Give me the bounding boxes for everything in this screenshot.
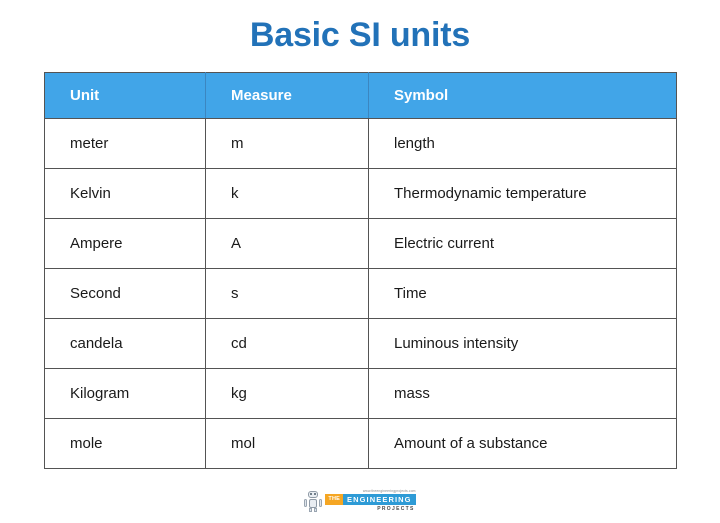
table-row: Ampere A Electric current <box>45 219 677 269</box>
cell-symbol: mass <box>369 369 677 419</box>
table-row: candela cd Luminous intensity <box>45 319 677 369</box>
slide-canvas: Basic SI units Unit Measure Symbol meter… <box>0 0 720 523</box>
logo-main-row: THE ENGINEERING <box>325 494 415 505</box>
logo-wordmark: www.theengineeringprojects.com THE ENGIN… <box>325 490 415 512</box>
cell-measure: mol <box>206 419 369 469</box>
cell-measure: k <box>206 169 369 219</box>
column-header-measure[interactable]: Measure <box>206 73 369 119</box>
table-row: Kelvin k Thermodynamic temperature <box>45 169 677 219</box>
table-row: meter m length <box>45 119 677 169</box>
logo-url-text: www.theengineeringprojects.com <box>363 490 416 493</box>
cell-unit: candela <box>45 319 206 369</box>
robot-icon <box>304 489 322 513</box>
table-row: Kilogram kg mass <box>45 369 677 419</box>
logo-projects-text: PROJECTS <box>377 507 414 512</box>
cell-unit: Kelvin <box>45 169 206 219</box>
cell-symbol: Amount of a substance <box>369 419 677 469</box>
cell-symbol: Thermodynamic temperature <box>369 169 677 219</box>
logo-engineering-text: ENGINEERING <box>343 494 416 505</box>
cell-unit: Ampere <box>45 219 206 269</box>
column-header-symbol[interactable]: Symbol <box>369 73 677 119</box>
cell-unit: Second <box>45 269 206 319</box>
cell-symbol: Electric current <box>369 219 677 269</box>
page-title: Basic SI units <box>0 14 720 56</box>
cell-measure: A <box>206 219 369 269</box>
cell-unit: mole <box>45 419 206 469</box>
cell-measure: cd <box>206 319 369 369</box>
table-header-row: Unit Measure Symbol <box>45 73 677 119</box>
table-row: Second s Time <box>45 269 677 319</box>
cell-measure: kg <box>206 369 369 419</box>
cell-unit: Kilogram <box>45 369 206 419</box>
table-body: meter m length Kelvin k Thermodynamic te… <box>45 119 677 469</box>
column-header-unit[interactable]: Unit <box>45 73 206 119</box>
table-header: Unit Measure Symbol <box>45 73 677 119</box>
cell-measure: s <box>206 269 369 319</box>
footer-logo: www.theengineeringprojects.com THE ENGIN… <box>0 487 720 515</box>
cell-symbol: Luminous intensity <box>369 319 677 369</box>
cell-measure: m <box>206 119 369 169</box>
table-row: mole mol Amount of a substance <box>45 419 677 469</box>
cell-unit: meter <box>45 119 206 169</box>
cell-symbol: Time <box>369 269 677 319</box>
cell-symbol: length <box>369 119 677 169</box>
si-units-table: Unit Measure Symbol meter m length Kelvi… <box>44 72 677 469</box>
logo-the-badge: THE <box>325 494 343 505</box>
